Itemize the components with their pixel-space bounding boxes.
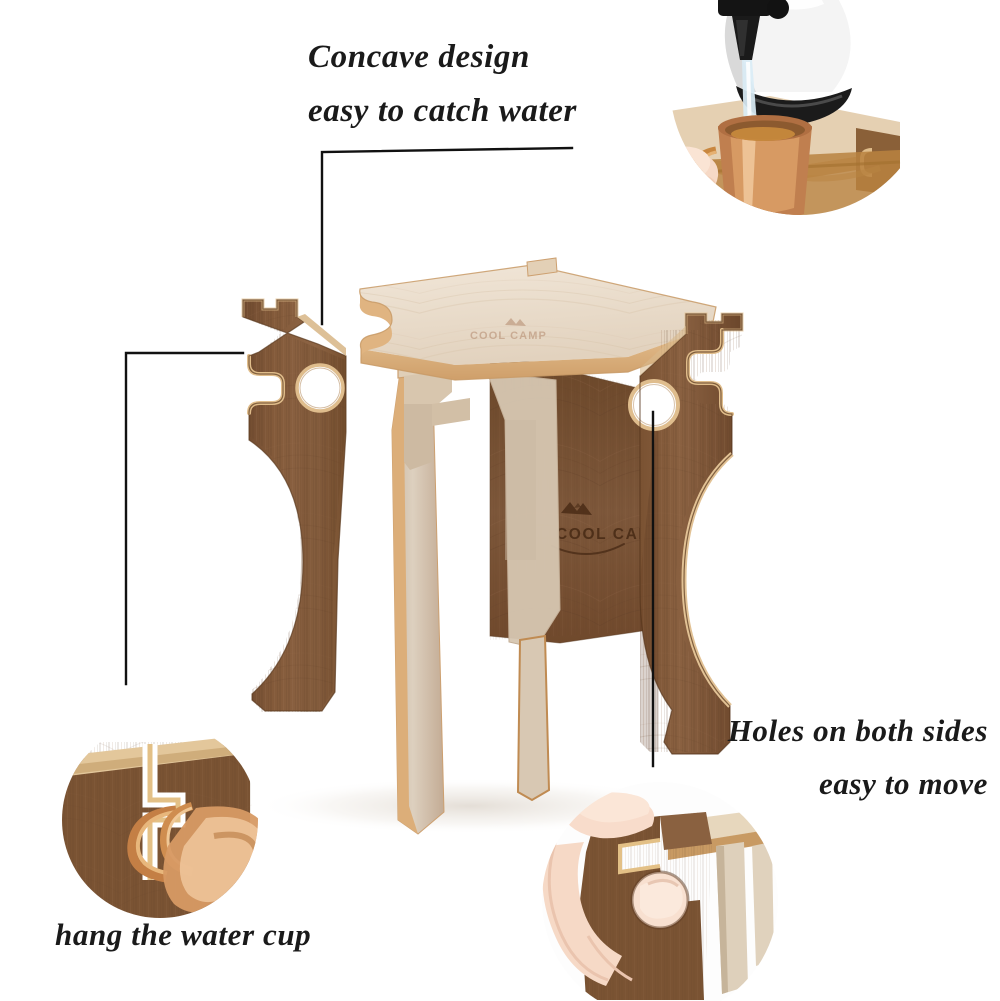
side-panel-hole-left [297,365,343,411]
callout-hang-water-cup: hang the water cup [55,912,311,958]
callout-concave-line2: easy to catch water [308,84,577,138]
inset-pour-photo [636,0,930,220]
main-product: COOL CAMP [230,258,755,834]
callout-holes-both-sides: Holes on both sides easy to move [728,704,988,810]
callout-hang-line1: hang the water cup [55,912,311,958]
hand-holding-mug [636,146,718,202]
inset-hang-cup-photo [62,722,270,922]
infographic-canvas: COOL CAMP [0,0,1000,1001]
left-side-panel [230,290,360,720]
right-side-panel [630,305,755,765]
thumb-in-hole [632,872,688,928]
leader-line-hang [126,353,243,684]
callout-concave-line1: Concave design [308,30,577,84]
product-illustration: COOL CAMP [0,0,1000,1001]
cross-legs [392,344,560,834]
callout-holes-line2: easy to move [728,757,988,810]
brand-text-tabletop: COOL CAMP [470,330,547,342]
callout-concave-design: Concave design easy to catch water [308,30,577,138]
callout-holes-line1: Holes on both sides [728,704,988,757]
